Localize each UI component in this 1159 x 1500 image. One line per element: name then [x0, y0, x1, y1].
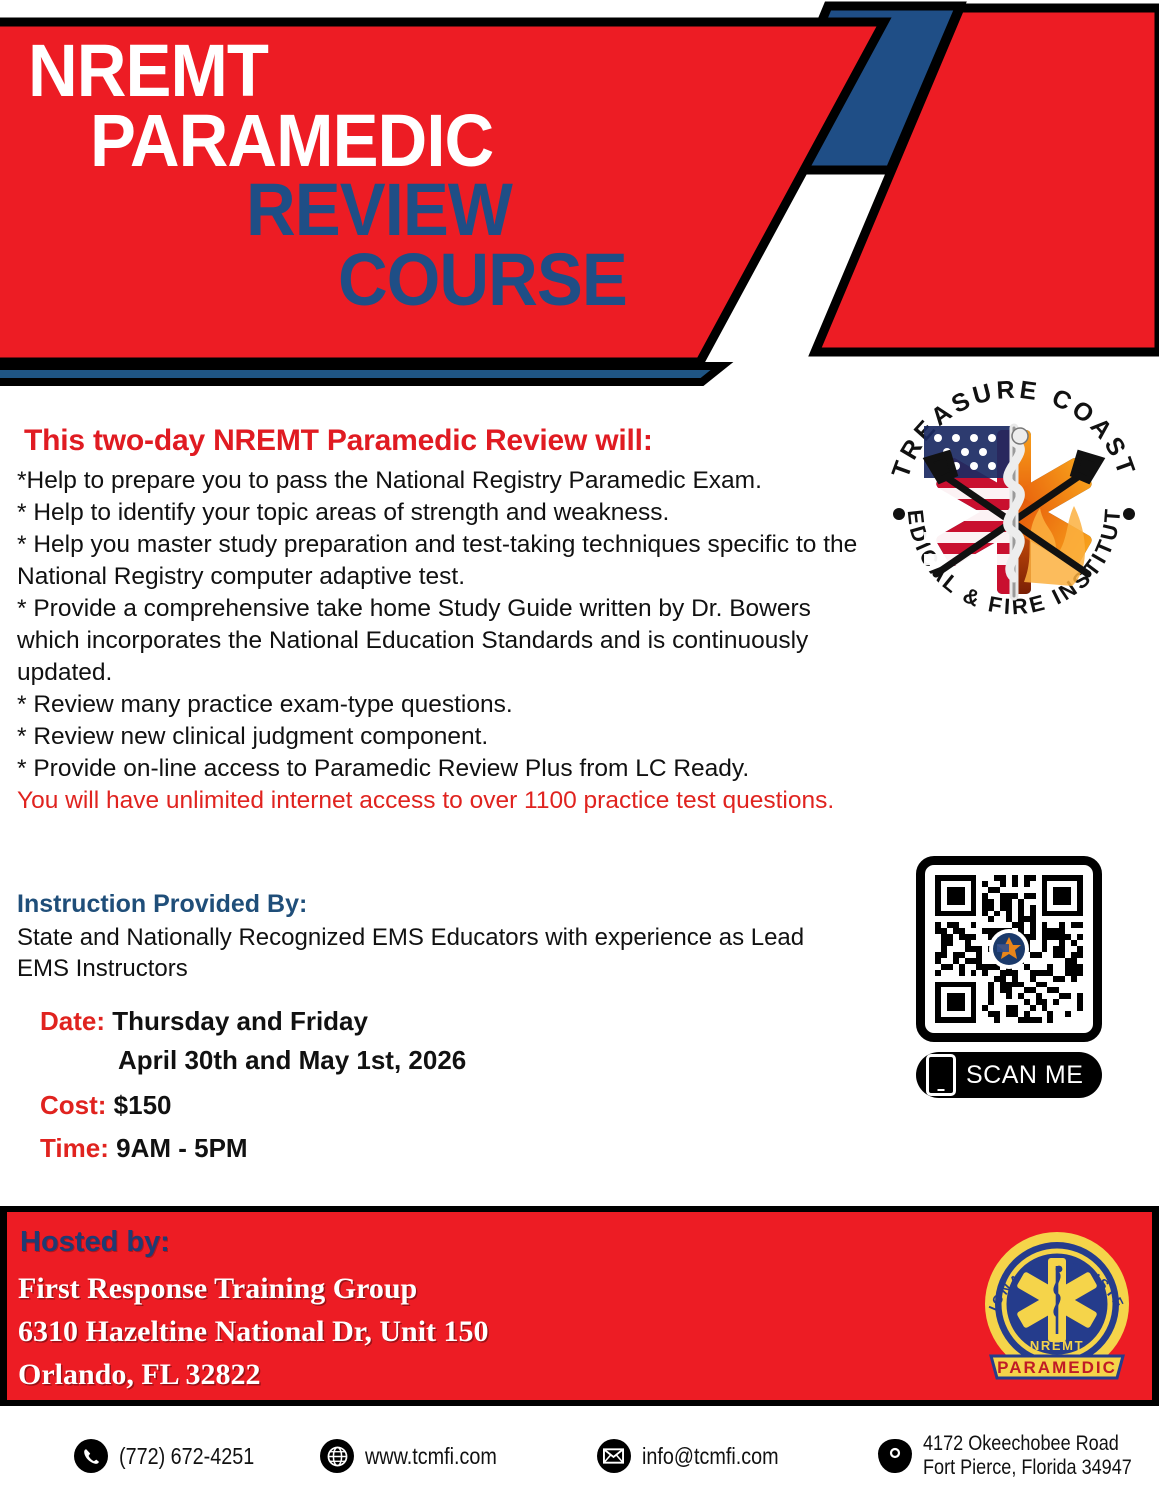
hosted-by-band: Hosted by: First Response Training Group… — [0, 1206, 1159, 1406]
bullet-item: * Help to identify your topic areas of s… — [17, 497, 862, 529]
date-value: Thursday and Friday — [112, 1006, 368, 1036]
qr-block[interactable]: SCAN ME — [916, 856, 1112, 1094]
detail-time-row: Time: 9AM - 5PM — [40, 1135, 740, 1161]
address-text: 4172 Okeechobee Road Fort Pierce, Florid… — [923, 1432, 1132, 1481]
hosted-by-label: Hosted by: — [20, 1226, 170, 1259]
contact-address[interactable]: 4172 Okeechobee Road Fort Pierce, Florid… — [878, 1432, 1159, 1481]
cost-label: Cost: — [40, 1090, 106, 1120]
scan-me-label: SCAN ME — [966, 1061, 1083, 1090]
qr-code[interactable] — [916, 856, 1102, 1042]
band-left-edge — [0, 1212, 7, 1400]
email-address: info@tcmfi.com — [642, 1443, 779, 1470]
host-line-3: Orlando, FL 32822 — [18, 1353, 778, 1396]
main-headline: This two-day NREMT Paramedic Review will… — [24, 424, 653, 458]
bullet-item: *Help to prepare you to pass the Nationa… — [17, 465, 862, 497]
contact-bar: (772) 672-4251 www.tcmfi.com — [0, 1425, 1159, 1487]
contact-website[interactable]: www.tcmfi.com — [320, 1439, 518, 1473]
seal-paramedic-text: PARAMEDIC — [997, 1358, 1117, 1377]
phone-number: (772) 672-4251 — [119, 1443, 254, 1470]
address-line-2: Fort Pierce, Florida 34947 — [923, 1456, 1132, 1479]
host-line-2: 6310 Hazeltine National Dr, Unit 150 — [18, 1310, 778, 1353]
bullet-highlight: You will have unlimited internet access … — [17, 785, 862, 817]
cost-value: $150 — [114, 1090, 172, 1120]
smartphone-icon — [926, 1054, 956, 1096]
instruction-body: State and Nationally Recognized EMS Educ… — [17, 922, 862, 984]
bullet-item: * Provide a comprehensive take home Stud… — [17, 593, 862, 689]
detail-date-row: Date: Thursday and Friday — [40, 1008, 740, 1034]
contact-phone[interactable]: (772) 672-4251 — [74, 1439, 276, 1473]
qr-center-logo — [989, 929, 1029, 969]
benefits-list: *Help to prepare you to pass the Nationa… — [17, 465, 862, 817]
nremt-paramedic-seal: NATIONALLY REGISTERED NREMT PARAMEDIC — [977, 1226, 1137, 1386]
time-value: 9AM - 5PM — [116, 1133, 247, 1163]
website-url: www.tcmfi.com — [365, 1443, 497, 1470]
header-graphic: NREMT PARAMEDIC REVIEW COURSE — [0, 0, 1159, 395]
host-line-1: First Response Training Group — [18, 1267, 778, 1310]
detail-cost-row: Cost: $150 — [40, 1092, 740, 1118]
time-label: Time: — [40, 1133, 109, 1163]
location-pin-icon — [878, 1439, 912, 1473]
date-value-second-line: April 30th and May 1st, 2026 — [118, 1047, 740, 1073]
header-red-banner — [0, 22, 884, 362]
flyer-page: NREMT PARAMEDIC REVIEW COURSE TREASURE — [0, 0, 1159, 1500]
date-label: Date: — [40, 1006, 105, 1036]
bullet-item: * Help you master study preparation and … — [17, 529, 862, 593]
bullet-item: * Provide on-line access to Paramedic Re… — [17, 753, 862, 785]
bullet-item: * Review new clinical judgment component… — [17, 721, 862, 753]
bullet-item: * Review many practice exam-type questio… — [17, 689, 862, 721]
band-right-edge — [1152, 1212, 1159, 1400]
instruction-section: Instruction Provided By: State and Natio… — [17, 890, 862, 984]
scan-me-badge[interactable]: SCAN ME — [916, 1052, 1102, 1098]
phone-icon — [74, 1439, 108, 1473]
address-line-1: 4172 Okeechobee Road — [923, 1432, 1119, 1455]
host-address: First Response Training Group 6310 Hazel… — [18, 1267, 778, 1397]
contact-email[interactable]: info@tcmfi.com — [597, 1439, 801, 1473]
globe-icon — [320, 1439, 354, 1473]
instruction-heading: Instruction Provided By: — [17, 890, 862, 919]
event-details: Date: Thursday and Friday April 30th and… — [40, 1008, 740, 1178]
header-blue-strip — [0, 366, 722, 382]
envelope-icon — [597, 1439, 631, 1473]
seal-nremt-text: NREMT — [1030, 1338, 1084, 1353]
